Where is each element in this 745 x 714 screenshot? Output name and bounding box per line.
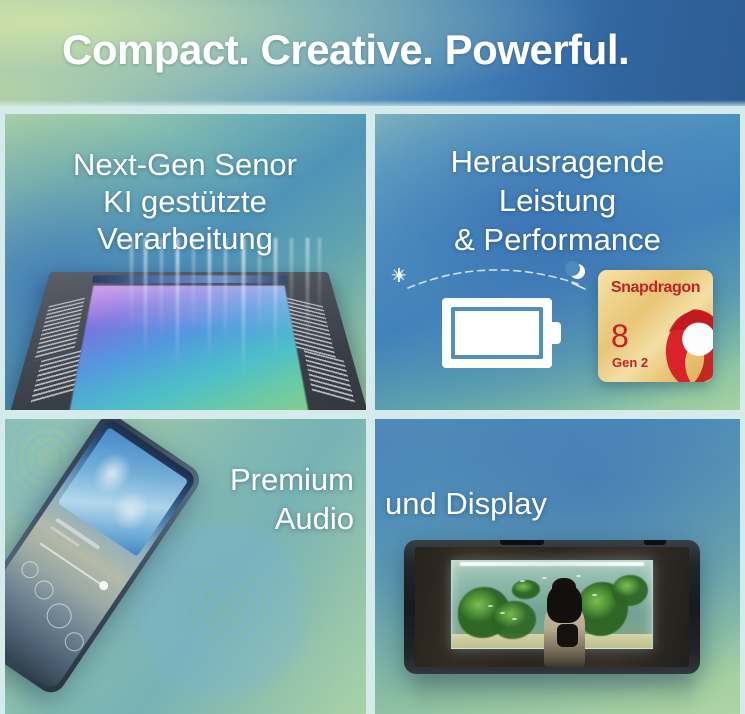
- snapdragon-number: 8: [611, 320, 629, 352]
- phone-screen-content: [415, 547, 689, 667]
- panel-performance-title-line2: Leistung: [370, 181, 745, 220]
- battery-icon: [442, 298, 564, 368]
- sensor-pins-right-bottom: [304, 350, 355, 403]
- phone-camera-slot: [644, 540, 666, 545]
- panel-performance-title: Herausragende Leistung & Performance: [370, 142, 745, 259]
- header-banner: Compact. Creative. Powerful.: [0, 0, 745, 110]
- snapdragon-logo-icon: [637, 304, 713, 382]
- aquarium-fish: [500, 612, 505, 614]
- dashed-arc-icon: [382, 258, 597, 294]
- aquarium-fish: [488, 605, 493, 607]
- phone-speaker-slot: [500, 540, 544, 545]
- next-button[interactable]: [61, 629, 87, 655]
- person-silhouette: [541, 578, 588, 667]
- sun-icon: [392, 268, 406, 282]
- grid-gutter-right: [740, 110, 745, 714]
- play-pause-button[interactable]: [42, 599, 77, 634]
- panel-sensor[interactable]: Next-Gen Senor KI gestützte Verarbeitung: [0, 110, 370, 414]
- shuffle-button[interactable]: [18, 558, 42, 582]
- snapdragon-badge: Snapdragon 8 Gen 2: [598, 270, 713, 382]
- panel-performance[interactable]: Herausragende Leistung & Performance: [370, 110, 745, 414]
- panel-sensor-inner: Next-Gen Senor KI gestützte Verarbeitung: [0, 110, 370, 414]
- panel-performance-inner: Herausragende Leistung & Performance: [370, 110, 745, 414]
- moon-icon: [570, 264, 585, 279]
- promo-graphic: Compact. Creative. Powerful. Next-Gen Se…: [0, 0, 745, 714]
- previous-button[interactable]: [31, 577, 57, 603]
- snapdragon-brand: Snapdragon: [598, 279, 713, 297]
- phone-reflection: [414, 676, 694, 714]
- panel-display-title: und Display: [385, 484, 547, 523]
- aquarium-fish: [576, 575, 581, 577]
- snapdragon-generation: Gen 2: [612, 355, 648, 370]
- panel-display-inner: und Display: [370, 414, 745, 714]
- day-night-arc: [382, 258, 597, 294]
- page-title: Compact. Creative. Powerful.: [62, 26, 629, 74]
- panel-sensor-title-line2: KI gestützte: [0, 183, 370, 220]
- aquarium-light: [460, 562, 645, 566]
- panel-display-title-line1: und Display: [385, 484, 547, 523]
- sensor-connector-bar: [92, 275, 288, 283]
- panel-audio-inner: Premium Audio: [0, 414, 370, 714]
- panel-audio[interactable]: Premium Audio: [0, 414, 370, 714]
- panel-performance-title-line3: & Performance: [370, 220, 745, 259]
- panel-performance-title-line1: Herausragende: [370, 142, 745, 181]
- panel-audio-title-line2: Audio: [230, 499, 354, 538]
- panel-audio-title: Premium Audio: [230, 460, 354, 538]
- panel-sensor-title: Next-Gen Senor KI gestützte Verarbeitung: [0, 146, 370, 257]
- aquarium-plant: [612, 575, 648, 606]
- panel-audio-title-line1: Premium: [230, 460, 354, 499]
- aquarium-plant: [512, 580, 540, 599]
- display-phone-image: [404, 540, 700, 674]
- panel-display[interactable]: und Display: [370, 414, 745, 714]
- sensor-die: [68, 286, 310, 414]
- panel-sensor-title-line1: Next-Gen Senor: [0, 146, 370, 183]
- panel-sensor-title-line3: Verarbeitung: [0, 220, 370, 257]
- grid-gutter-left: [0, 110, 5, 714]
- grid-gutter-horizontal: [0, 410, 745, 419]
- sensor-substrate: [7, 272, 370, 414]
- camera-sensor-image: [50, 262, 328, 412]
